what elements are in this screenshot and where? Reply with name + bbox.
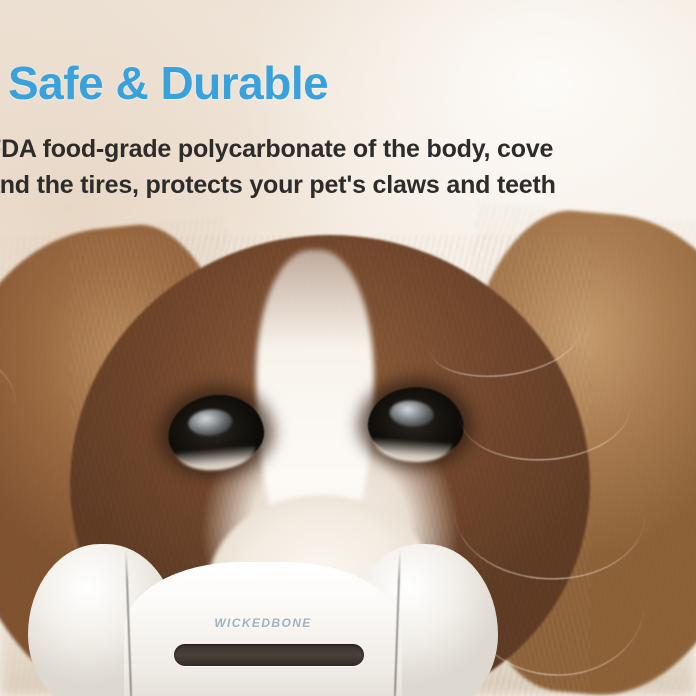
wickedbone-logo: WICKEDBONE: [28, 616, 498, 630]
eye-highlight: [389, 400, 435, 429]
body-copy-line: and the tires, protects your pet's claws…: [0, 168, 696, 204]
product-feature-banner: WICKEDBONE Safe & Durable FDA food-grade…: [0, 0, 696, 696]
headline: Safe & Durable: [8, 60, 328, 106]
eye-highlight: [187, 408, 233, 438]
toy-front-slot: [174, 644, 364, 666]
body-copy: FDA food-grade polycarbonate of the body…: [0, 132, 696, 203]
body-copy-line: FDA food-grade polycarbonate of the body…: [0, 132, 696, 168]
wickedbone-toy: WICKEDBONE: [28, 544, 498, 696]
